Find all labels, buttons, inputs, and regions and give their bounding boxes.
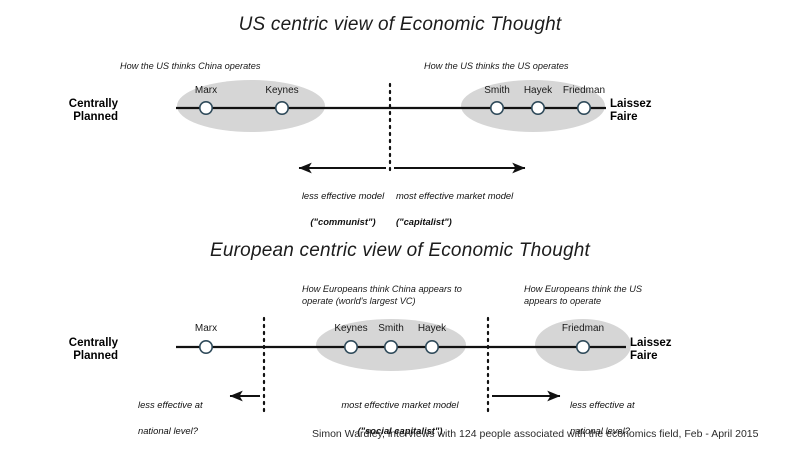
caption-us-thinks-china: How the US thinks China operates — [120, 60, 260, 72]
node-marker-smith-2[interactable] — [385, 341, 397, 353]
node-marker-keynes-1[interactable] — [276, 102, 288, 114]
node-label-keynes-2: Keynes — [334, 323, 367, 334]
node-label-friedman-2: Friedman — [562, 323, 604, 334]
node-label-smith-1: Smith — [484, 85, 510, 96]
node-label-marx-1: Marx — [195, 85, 217, 96]
pole-label-centrally-planned-1: Centrally Planned — [58, 98, 118, 124]
annotation-left-national-level: less effective at national level? — [138, 385, 228, 450]
caption-europeans-think-china: How Europeans think China appears to ope… — [302, 283, 477, 307]
annotation-most-effective-line1: most effective market model — [396, 189, 546, 202]
node-label-marx-2: Marx — [195, 323, 217, 334]
annotation-left-national-line2: national level? — [138, 424, 228, 437]
caption-us-thinks-us: How the US thinks the US operates — [424, 60, 569, 72]
node-marker-marx-1[interactable] — [200, 102, 212, 114]
pole-label-laissez-faire-2: Laissez Faire — [630, 337, 700, 363]
node-marker-friedman-2[interactable] — [577, 341, 589, 353]
node-label-keynes-1: Keynes — [265, 85, 298, 96]
pole-label-laissez-faire-1: Laissez Faire — [610, 98, 680, 124]
annotation-less-effective-line1: less effective model — [297, 189, 389, 202]
node-marker-keynes-2[interactable] — [345, 341, 357, 353]
node-marker-smith-1[interactable] — [491, 102, 503, 114]
node-marker-marx-2[interactable] — [200, 341, 212, 353]
diagram-canvas: US centric view of Economic Thought How … — [0, 0, 800, 450]
annotation-social-capitalist-line1: most effective market model — [328, 398, 472, 411]
source-credit: Simon Wardley, interviews with 124 peopl… — [312, 428, 758, 440]
node-label-hayek-1: Hayek — [524, 85, 552, 96]
panel-2-title: European centric view of Economic Though… — [0, 240, 800, 262]
caption-europeans-think-us: How Europeans think the US appears to op… — [524, 283, 664, 307]
node-marker-friedman-1[interactable] — [578, 102, 590, 114]
annotation-right-national-line1: less effective at — [570, 398, 665, 411]
node-label-smith-2: Smith — [378, 323, 404, 334]
annotation-most-effective-model: most effective market model ("capitalist… — [396, 176, 546, 241]
annotation-less-effective-line2: ("communist") — [297, 215, 389, 228]
node-label-friedman-1: Friedman — [563, 85, 605, 96]
node-marker-hayek-1[interactable] — [532, 102, 544, 114]
annotation-less-effective-model: less effective model ("communist") — [297, 176, 389, 241]
annotation-most-effective-line2: ("capitalist") — [396, 215, 546, 228]
annotation-right-national-level: less effective at national level? — [570, 385, 665, 450]
annotation-left-national-line1: less effective at — [138, 398, 228, 411]
pole-label-centrally-planned-2: Centrally Planned — [58, 337, 118, 363]
node-label-hayek-2: Hayek — [418, 323, 446, 334]
annotation-social-capitalist: most effective market model ("social cap… — [328, 385, 472, 450]
panel-1-title: US centric view of Economic Thought — [0, 14, 800, 36]
node-marker-hayek-2[interactable] — [426, 341, 438, 353]
